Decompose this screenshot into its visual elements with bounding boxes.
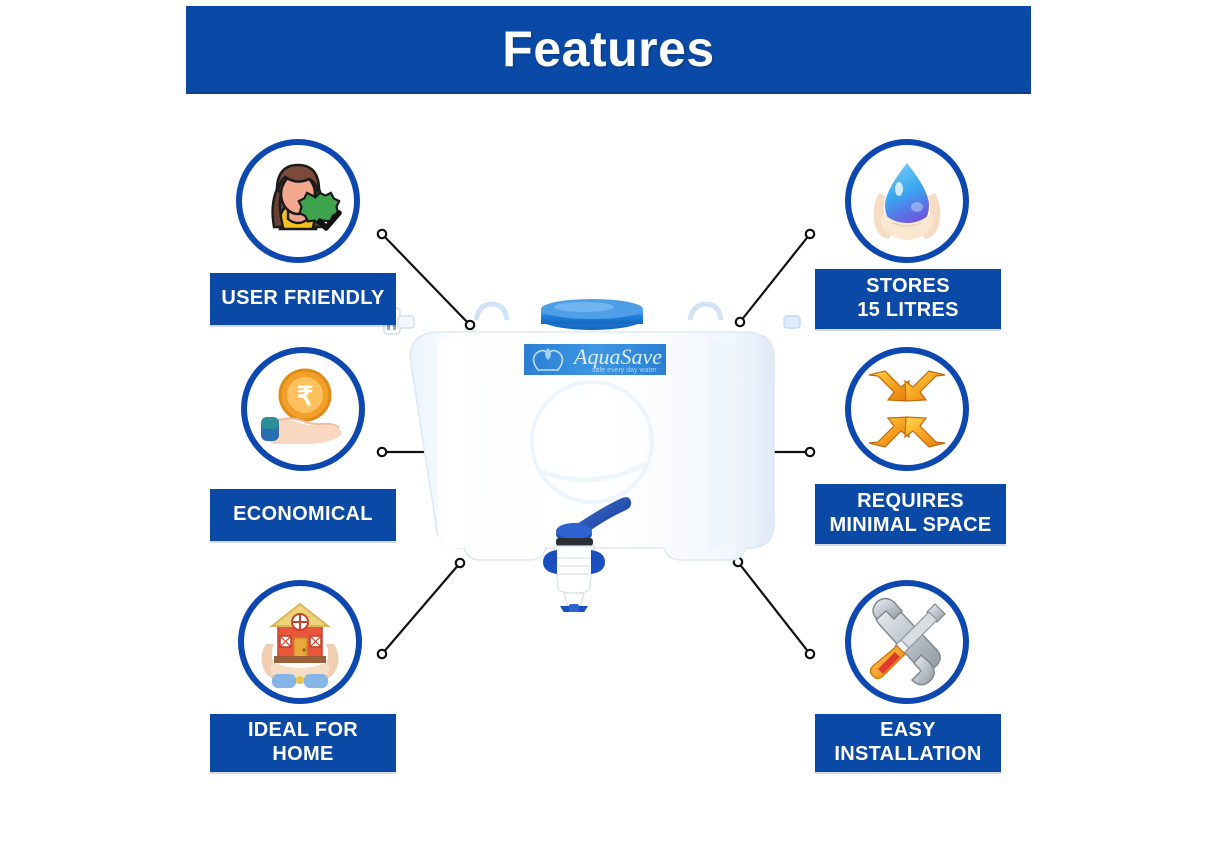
- label-text-line2: 15 LITRES: [857, 299, 959, 321]
- woman-verified-icon: [246, 149, 350, 253]
- label-text-line1: EASY: [880, 719, 936, 741]
- tank-handle-right: [690, 304, 721, 320]
- connector-dot: [378, 230, 386, 238]
- tank-cap: [541, 299, 643, 330]
- svg-text:safe every day water: safe every day water: [592, 367, 657, 374]
- icon-circle-easy-installation[interactable]: [845, 580, 969, 704]
- label-text-line2: MINIMAL SPACE: [829, 514, 991, 536]
- icon-circle-economical[interactable]: ₹: [241, 347, 365, 471]
- connector-dot: [378, 650, 386, 658]
- icon-circle-ideal-for-home[interactable]: [238, 580, 362, 704]
- hand-rupee-coin-icon: ₹: [251, 357, 355, 461]
- product-image-water-tank: AquaSave safe every day water: [378, 282, 818, 612]
- connector-dot: [806, 230, 814, 238]
- svg-text:₹: ₹: [297, 381, 314, 411]
- svg-text:AquaSave: AquaSave: [572, 344, 662, 369]
- infographic-canvas: Features: [0, 0, 1214, 841]
- label-ideal-for-home[interactable]: IDEAL FOR HOME: [210, 714, 396, 772]
- wrench-screwdriver-icon: [855, 590, 959, 694]
- tank-handle-left: [476, 304, 507, 320]
- label-requires-minimal-space[interactable]: REQUIRES MINIMAL SPACE: [815, 484, 1006, 544]
- label-text: ECONOMICAL: [233, 503, 373, 527]
- compress-arrows-icon: [855, 357, 959, 461]
- label-text-line1: REQUIRES: [857, 490, 964, 512]
- icon-circle-requires-minimal-space[interactable]: [845, 347, 969, 471]
- label-text-line2: INSTALLATION: [834, 743, 981, 765]
- icon-circle-user-friendly[interactable]: [236, 139, 360, 263]
- tank-side-fitting-right: [784, 316, 800, 328]
- label-economical[interactable]: ECONOMICAL: [210, 489, 396, 541]
- label-text-line2: HOME: [272, 743, 333, 765]
- icon-circle-stores-15-litres[interactable]: [845, 139, 969, 263]
- label-easy-installation[interactable]: EASY INSTALLATION: [815, 714, 1001, 772]
- hands-holding-water-drop-icon: [855, 149, 959, 253]
- label-stores-15-litres[interactable]: STORES 15 LITRES: [815, 269, 1001, 329]
- connector-dot: [806, 650, 814, 658]
- label-user-friendly[interactable]: USER FRIENDLY: [210, 273, 396, 325]
- label-text-line1: IDEAL FOR: [248, 719, 358, 741]
- label-text-line1: STORES: [866, 275, 950, 297]
- product-brand-label: AquaSave safe every day water: [524, 344, 666, 375]
- label-text: USER FRIENDLY: [221, 287, 384, 311]
- hands-holding-house-icon: [248, 590, 352, 694]
